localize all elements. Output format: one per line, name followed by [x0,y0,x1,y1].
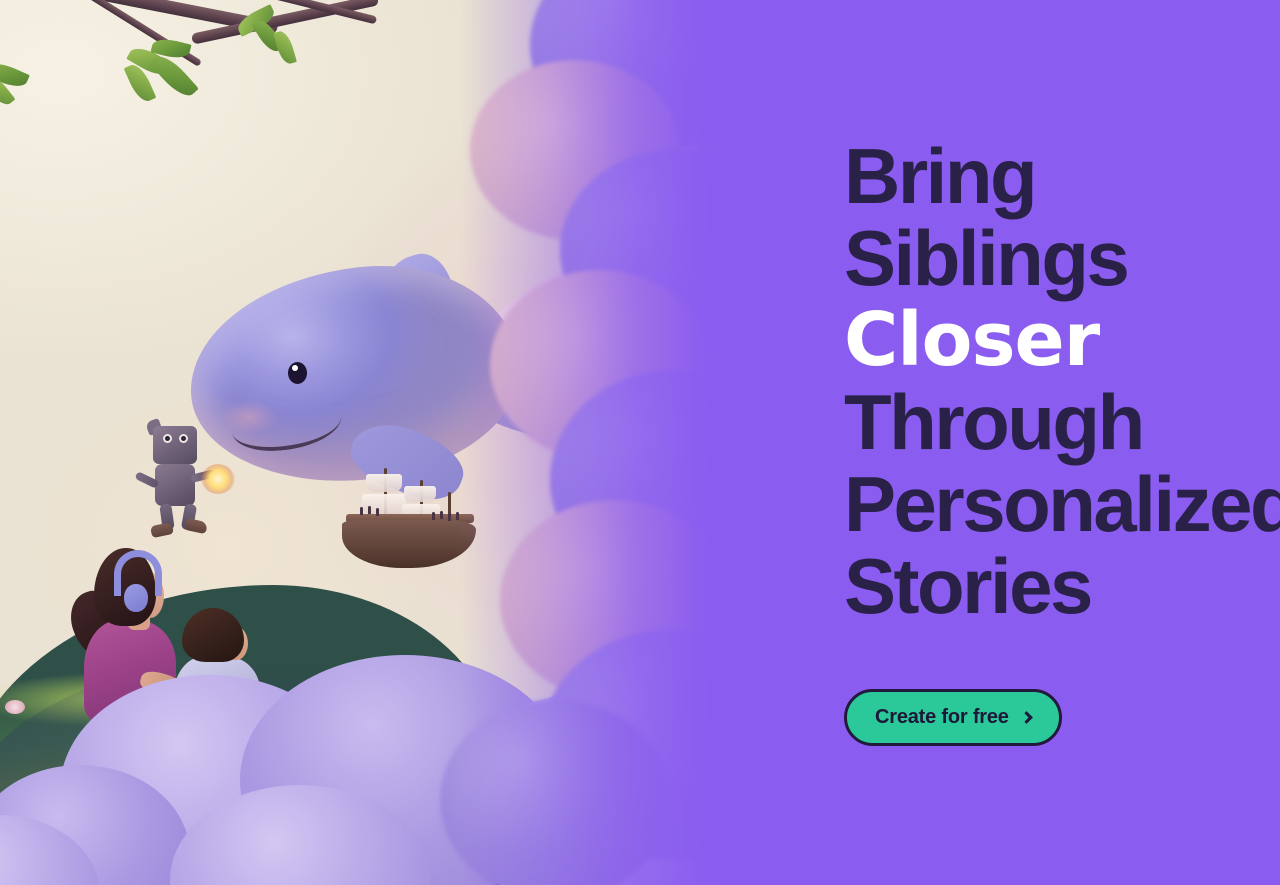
hero-illustration [0,0,760,885]
illustration-fade-edge [670,0,760,885]
headline-line-5: Personalized [844,463,1280,545]
hero-content-panel: Bring Siblings Closer Through Personaliz… [760,0,1280,885]
cta-label: Create for free [875,706,1009,729]
robot-icon [133,420,233,535]
chevron-right-icon [1020,711,1033,724]
robot-glow [201,464,235,494]
whale-eye [288,362,307,384]
headline-line-2: Siblings [844,217,1280,299]
headline-line-3: Closer [844,299,1280,381]
create-for-free-button[interactable]: Create for free [844,689,1062,746]
hero-section: Bring Siblings Closer Through Personaliz… [0,0,1280,885]
headline-line-4: Through [844,381,1280,463]
page-title: Bring Siblings Closer Through Personaliz… [844,135,1280,627]
headline-line-6: Stories [844,545,1280,627]
headline-line-1: Bring [844,135,1280,217]
